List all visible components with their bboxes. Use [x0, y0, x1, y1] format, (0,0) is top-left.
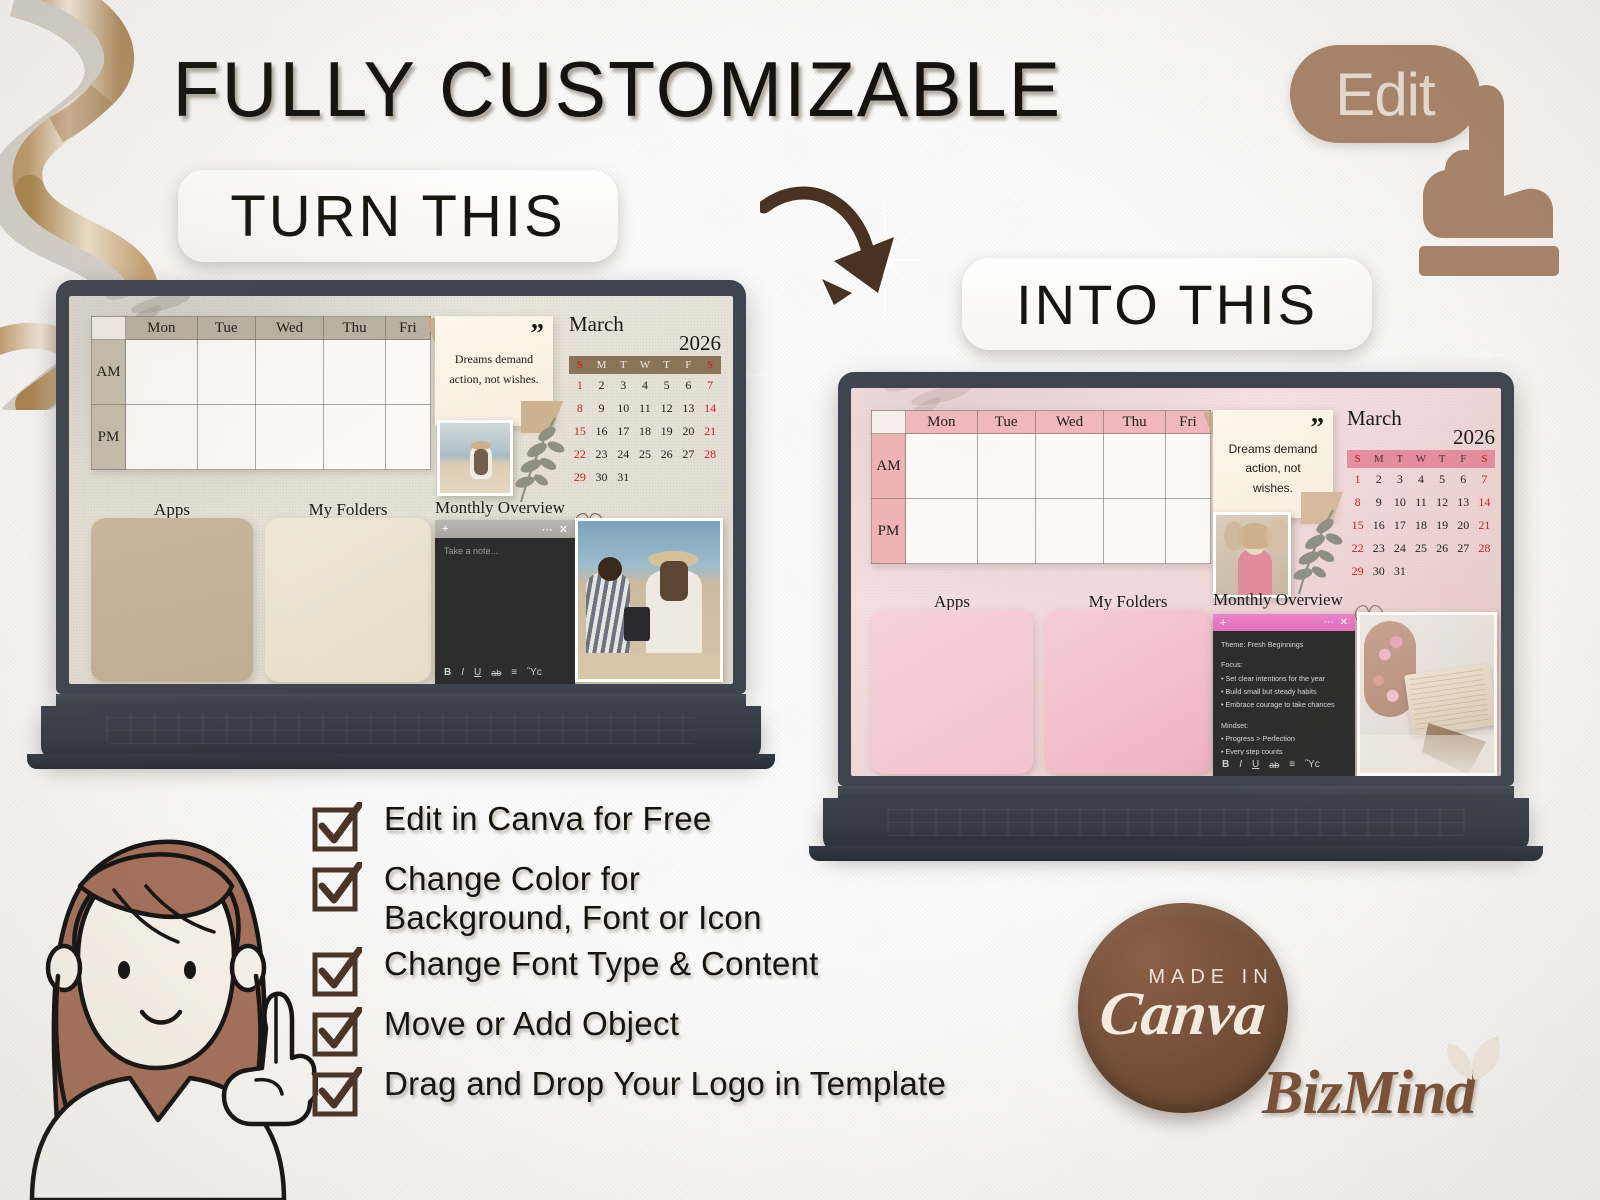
olive-branch-icon — [509, 414, 569, 506]
note-more-icon[interactable]: ⋯ — [1324, 617, 1334, 628]
calendar-day[interactable]: 31 — [1389, 560, 1410, 583]
image-icon[interactable]: Ὓc — [527, 667, 542, 678]
calendar-day[interactable]: 23 — [591, 443, 613, 466]
laptop-hinge — [838, 786, 1514, 798]
planner-row-pm: PM — [92, 405, 126, 470]
calendar-day[interactable]: 27 — [1453, 537, 1474, 560]
note-toolbar[interactable]: B I U ab ≡ Ὓc — [1213, 755, 1355, 776]
checklist-label: Drag and Drop Your Logo in Template — [384, 1063, 946, 1104]
dow-thu: T — [656, 356, 678, 374]
note-placeholder: Take a note... — [444, 546, 566, 556]
planner-col-fri: Fri — [1165, 411, 1210, 434]
calendar-day[interactable]: 15 — [1347, 514, 1368, 537]
calendar-day[interactable]: 22 — [1347, 537, 1368, 560]
planner-cell[interactable] — [255, 405, 324, 470]
calendar-days: 1 2 3 4 5 6 7 8 9 10 11 — [569, 374, 721, 489]
calendar-week: 22 23 24 25 26 27 28 — [1347, 537, 1495, 560]
note-line: Mindset: — [1221, 719, 1347, 732]
calendar-day[interactable]: 29 — [1347, 560, 1368, 583]
page-title: FULLY CUSTOMIZABLE — [172, 44, 1062, 135]
calendar-day[interactable]: 25 — [634, 443, 656, 466]
olive-branch-icon — [1287, 506, 1347, 598]
calendar-day[interactable]: 26 — [656, 443, 678, 466]
after-laptop: Mon Tue Wed Thu Fri AM PM — [838, 372, 1514, 852]
quote-mark-icon: ” — [1311, 412, 1325, 443]
note-add-icon[interactable]: + — [1220, 617, 1226, 629]
feature-checklist: Edit in Canva for Free Change Color for … — [312, 798, 1132, 1123]
calendar-day — [1432, 560, 1453, 583]
calendar-day[interactable]: 20 — [1453, 514, 1474, 537]
folders-box[interactable] — [265, 518, 431, 682]
calendar-days: 1 2 3 4 5 6 7 8 9 10 11 — [1347, 468, 1495, 583]
planner-corner-cell — [872, 411, 906, 434]
folders-box-title: My Folders — [265, 500, 431, 520]
calendar-week: 1 2 3 4 5 6 7 — [569, 374, 721, 397]
made-in-canva-badge: MADE IN Canva — [1078, 903, 1288, 1113]
calendar-day[interactable]: 14 — [1474, 491, 1495, 514]
calendar-grid: S M T W T F S 1 2 3 4 5 — [569, 356, 721, 489]
planner-am-row: AM — [872, 434, 1211, 499]
calendar-day[interactable]: 23 — [1368, 537, 1389, 560]
planner-am-row: AM — [92, 340, 431, 405]
planner-cell[interactable] — [197, 405, 255, 470]
apps-box[interactable] — [91, 518, 253, 682]
before-laptop: Mon Tue Wed Thu Fri AM PM — [56, 280, 746, 760]
laptop-base — [41, 706, 761, 760]
calendar-week: 15 16 17 18 19 20 21 — [1347, 514, 1495, 537]
dow-sun: S — [1347, 450, 1368, 468]
planner-cell[interactable] — [1165, 434, 1210, 499]
turn-this-label: TURN THIS — [178, 170, 618, 262]
calendar-day[interactable]: 26 — [1432, 537, 1453, 560]
calendar-day[interactable]: 21 — [699, 420, 721, 443]
planner-cell[interactable] — [385, 340, 430, 405]
bold-icon[interactable]: B — [444, 667, 451, 678]
calendar-day — [634, 466, 656, 489]
calendar-day[interactable]: 4 — [1410, 468, 1431, 491]
checklist-item[interactable]: Change Color for Background, Font or Ico… — [312, 858, 1132, 937]
note-body[interactable]: Theme: Fresh Beginnings Focus: • Set cle… — [1213, 631, 1355, 755]
checkbox-checked-icon[interactable] — [312, 862, 362, 912]
planner-cell[interactable] — [977, 434, 1035, 499]
weekly-planner-table[interactable]: Mon Tue Wed Thu Fri AM PM — [91, 316, 431, 470]
dow-wed: W — [1410, 450, 1431, 468]
laptop-foot — [27, 754, 775, 769]
planner-row-am: AM — [872, 434, 906, 499]
girl-illustration — [18, 790, 318, 1200]
before-screen: Mon Tue Wed Thu Fri AM PM — [69, 296, 733, 684]
italic-icon[interactable]: I — [461, 667, 464, 678]
calendar-day[interactable]: 7 — [699, 374, 721, 397]
after-screen: Mon Tue Wed Thu Fri AM PM — [851, 388, 1501, 776]
calendar-day[interactable]: 12 — [656, 397, 678, 420]
calendar-day[interactable]: 9 — [1368, 491, 1389, 514]
planner-row-pm: PM — [872, 499, 906, 564]
calendar-day[interactable]: 22 — [569, 443, 591, 466]
calendar-week: 22 23 24 25 26 27 28 — [569, 443, 721, 466]
sticky-note-widget[interactable]: + ⋯ ✕ Take a note... B I U ab ≡ Ὓc — [435, 520, 575, 684]
checkbox-checked-icon[interactable] — [312, 802, 362, 852]
checklist-label: Move or Add Object — [384, 1003, 679, 1044]
calendar-day[interactable]: 17 — [612, 420, 634, 443]
monthly-overview-title: Monthly Overview — [1213, 590, 1343, 610]
planner-col-tue: Tue — [977, 411, 1035, 434]
checklist-item[interactable]: Change Font Type & Content — [312, 943, 1132, 997]
calendar-day[interactable]: 24 — [1389, 537, 1410, 560]
checkbox-checked-icon[interactable] — [312, 1007, 362, 1057]
planner-col-tue: Tue — [197, 317, 255, 340]
into-this-label: INTO THIS — [962, 258, 1372, 350]
calendar-day[interactable]: 11 — [634, 397, 656, 420]
checklist-label: Change Color for Background, Font or Ico… — [384, 858, 762, 937]
woman-in-pink-dress-photo — [1213, 512, 1291, 598]
calendar-day[interactable]: 18 — [634, 420, 656, 443]
note-add-icon[interactable]: + — [442, 523, 448, 535]
leaf-icon — [1434, 1028, 1512, 1088]
planner-cell[interactable] — [385, 405, 430, 470]
calendar-day[interactable]: 1 — [569, 374, 591, 397]
calendar-week: 1 2 3 4 5 6 7 — [1347, 468, 1495, 491]
pointing-hand-icon — [1395, 78, 1560, 283]
calendar-day[interactable]: 28 — [699, 443, 721, 466]
calendar-day[interactable]: 15 — [569, 420, 591, 443]
calendar-day — [1410, 560, 1431, 583]
calendar-day[interactable]: 19 — [1432, 514, 1453, 537]
planner-cell[interactable] — [1035, 499, 1104, 564]
planner-cell[interactable] — [1035, 434, 1104, 499]
dow-thu: T — [1432, 450, 1453, 468]
planner-cell[interactable] — [126, 340, 198, 405]
calendar-day[interactable]: 2 — [1368, 468, 1389, 491]
canva-text: Canva — [1097, 979, 1270, 1050]
calendar-day[interactable]: 2 — [591, 374, 613, 397]
calendar-day[interactable]: 4 — [634, 374, 656, 397]
planner-cell[interactable] — [906, 434, 978, 499]
calendar-week: 29 30 31 — [1347, 560, 1495, 583]
calendar-week: 8 9 10 11 12 13 14 — [569, 397, 721, 420]
checklist-label: Change Font Type & Content — [384, 943, 819, 984]
planner-row-am: AM — [92, 340, 126, 405]
planner-col-mon: Mon — [906, 411, 978, 434]
apps-box-title: Apps — [871, 592, 1033, 612]
woman-on-beach-photo — [437, 420, 513, 496]
calendar-day[interactable]: 10 — [1389, 491, 1410, 514]
planner-cell[interactable] — [906, 499, 978, 564]
note-line: Theme: Fresh Beginnings — [1221, 638, 1347, 651]
checkbox-checked-icon[interactable] — [312, 1067, 362, 1117]
underline-icon[interactable]: U — [474, 667, 481, 678]
bizmind-logo: BizMind — [1262, 1058, 1476, 1129]
note-more-icon[interactable]: ⋯ — [542, 523, 553, 536]
list-icon[interactable]: ≡ — [511, 667, 517, 678]
march-calendar: March 2026 S M T W T F S 1 — [569, 312, 721, 489]
march-calendar: March 2026 S M T W T F S 1 — [1347, 406, 1495, 583]
calendar-day[interactable]: 13 — [678, 397, 700, 420]
planner-cell[interactable] — [255, 340, 324, 405]
calendar-day[interactable]: 5 — [656, 374, 678, 397]
dow-fri: F — [678, 356, 700, 374]
calendar-day[interactable]: 6 — [678, 374, 700, 397]
calendar-day[interactable]: 25 — [1410, 537, 1431, 560]
note-line: • Set clear intentions for the year — [1221, 672, 1347, 685]
quote-mark-icon: ” — [531, 318, 545, 349]
flowers-and-book-photo — [1357, 612, 1497, 776]
into-this-text: INTO THIS — [1016, 272, 1318, 337]
dow-mon: M — [1368, 450, 1389, 468]
calendar-day — [699, 466, 721, 489]
calendar-day[interactable]: 24 — [612, 443, 634, 466]
calendar-day[interactable]: 27 — [678, 443, 700, 466]
calendar-day — [678, 466, 700, 489]
note-line: Focus: — [1221, 658, 1347, 671]
note-line: • Embrace courage to take chances — [1221, 698, 1347, 711]
note-titlebar: + ⋯ ✕ — [435, 520, 575, 538]
apps-box[interactable] — [871, 610, 1033, 774]
planner-col-fri: Fri — [385, 317, 430, 340]
planner-col-wed: Wed — [1035, 411, 1104, 434]
laptop-hinge — [56, 694, 746, 706]
calendar-day[interactable]: 3 — [612, 374, 634, 397]
planner-pm-row: PM — [872, 499, 1211, 564]
planner-header-row: Mon Tue Wed Thu Fri — [92, 317, 431, 340]
calendar-week: 8 9 10 11 12 13 14 — [1347, 491, 1495, 514]
planner-cell[interactable] — [126, 405, 198, 470]
dow-sun: S — [569, 356, 591, 374]
calendar-dow-row: S M T W T F S — [569, 356, 721, 374]
calendar-day[interactable]: 21 — [1474, 514, 1495, 537]
note-toolbar[interactable]: B I U ab ≡ Ὓc — [435, 663, 575, 684]
checklist-item[interactable]: Edit in Canva for Free — [312, 798, 1132, 852]
checklist-item[interactable]: Move or Add Object — [312, 1003, 1132, 1057]
calendar-day — [1474, 560, 1495, 583]
calendar-day[interactable]: 11 — [1410, 491, 1431, 514]
planner-cell[interactable] — [197, 340, 255, 405]
dow-tue: T — [612, 356, 634, 374]
calendar-grid: S M T W T F S 1 2 3 4 5 — [1347, 450, 1495, 583]
note-body[interactable]: Take a note... — [435, 538, 575, 663]
calendar-day[interactable]: 7 — [1474, 468, 1495, 491]
monthly-overview-title: Monthly Overview — [435, 498, 565, 518]
apps-box-title: Apps — [91, 500, 253, 520]
calendar-week: 15 16 17 18 19 20 21 — [569, 420, 721, 443]
calendar-day[interactable]: 19 — [656, 420, 678, 443]
calendar-day[interactable]: 14 — [699, 397, 721, 420]
dow-sat: S — [1474, 450, 1495, 468]
calendar-day[interactable]: 30 — [591, 466, 613, 489]
laptop-keyboard — [106, 714, 696, 744]
strikethrough-icon[interactable]: ab — [1269, 760, 1279, 770]
dow-wed: W — [634, 356, 656, 374]
folders-box-title: My Folders — [1045, 592, 1211, 612]
underline-icon[interactable]: U — [1252, 759, 1259, 770]
turn-this-text: TURN THIS — [230, 183, 565, 250]
planner-corner-cell — [92, 317, 126, 340]
image-icon[interactable]: Ὓc — [1305, 759, 1320, 770]
checklist-label: Edit in Canva for Free — [384, 798, 712, 839]
calendar-day[interactable]: 20 — [678, 420, 700, 443]
note-line: • Build small but steady habits — [1221, 685, 1347, 698]
calendar-day[interactable]: 18 — [1410, 514, 1431, 537]
calendar-day[interactable]: 13 — [1453, 491, 1474, 514]
bold-icon[interactable]: B — [1222, 759, 1229, 770]
planner-cell[interactable] — [977, 499, 1035, 564]
planner-col-mon: Mon — [126, 317, 198, 340]
checklist-item[interactable]: Drag and Drop Your Logo in Template — [312, 1063, 1132, 1117]
weekly-planner-table[interactable]: Mon Tue Wed Thu Fri AM PM — [871, 410, 1211, 564]
dow-sat: S — [699, 356, 721, 374]
italic-icon[interactable]: I — [1239, 759, 1242, 770]
note-line: • Progress > Perfection — [1221, 732, 1347, 745]
calendar-day[interactable]: 16 — [1368, 514, 1389, 537]
calendar-day[interactable]: 30 — [1368, 560, 1389, 583]
planner-cell[interactable] — [1104, 499, 1165, 564]
planner-cell[interactable] — [1104, 434, 1165, 499]
planner-col-thu: Thu — [1104, 411, 1165, 434]
planner-col-wed: Wed — [255, 317, 324, 340]
calendar-day — [1453, 560, 1474, 583]
calendar-day[interactable]: 8 — [569, 397, 591, 420]
note-titlebar: + ⋯ ✕ — [1213, 614, 1355, 631]
strikethrough-icon[interactable]: ab — [491, 668, 501, 678]
calendar-dow-row: S M T W T F S — [1347, 450, 1495, 468]
calendar-day[interactable]: 29 — [569, 466, 591, 489]
calendar-day[interactable]: 31 — [612, 466, 634, 489]
couple-on-beach-photo — [575, 518, 723, 682]
calendar-day — [656, 466, 678, 489]
planner-header-row: Mon Tue Wed Thu Fri — [872, 411, 1211, 434]
planner-col-thu: Thu — [324, 317, 385, 340]
calendar-day[interactable]: 12 — [1432, 491, 1453, 514]
calendar-day[interactable]: 28 — [1474, 537, 1495, 560]
checkbox-checked-icon[interactable] — [312, 947, 362, 997]
calendar-week: 29 30 31 — [569, 466, 721, 489]
calendar-day[interactable]: 1 — [1347, 468, 1368, 491]
calendar-day[interactable]: 17 — [1389, 514, 1410, 537]
planner-cell[interactable] — [1165, 499, 1210, 564]
list-icon[interactable]: ≡ — [1289, 759, 1295, 770]
calendar-day[interactable]: 5 — [1432, 468, 1453, 491]
planner-cell[interactable] — [324, 340, 385, 405]
dow-tue: T — [1389, 450, 1410, 468]
calendar-day[interactable]: 8 — [1347, 491, 1368, 514]
folders-box[interactable] — [1045, 610, 1211, 774]
calendar-day[interactable]: 9 — [591, 397, 613, 420]
dow-mon: M — [591, 356, 613, 374]
planner-cell[interactable] — [324, 405, 385, 470]
note-line: • Every step counts — [1221, 745, 1347, 755]
sticky-note-widget[interactable]: + ⋯ ✕ Theme: Fresh Beginnings Focus: • S… — [1213, 614, 1355, 776]
calendar-day[interactable]: 6 — [1453, 468, 1474, 491]
calendar-day[interactable]: 16 — [591, 420, 613, 443]
calendar-day[interactable]: 10 — [612, 397, 634, 420]
calendar-day[interactable]: 3 — [1389, 468, 1410, 491]
planner-pm-row: PM — [92, 405, 431, 470]
dow-fri: F — [1453, 450, 1474, 468]
curved-arrow-icon — [760, 175, 920, 325]
